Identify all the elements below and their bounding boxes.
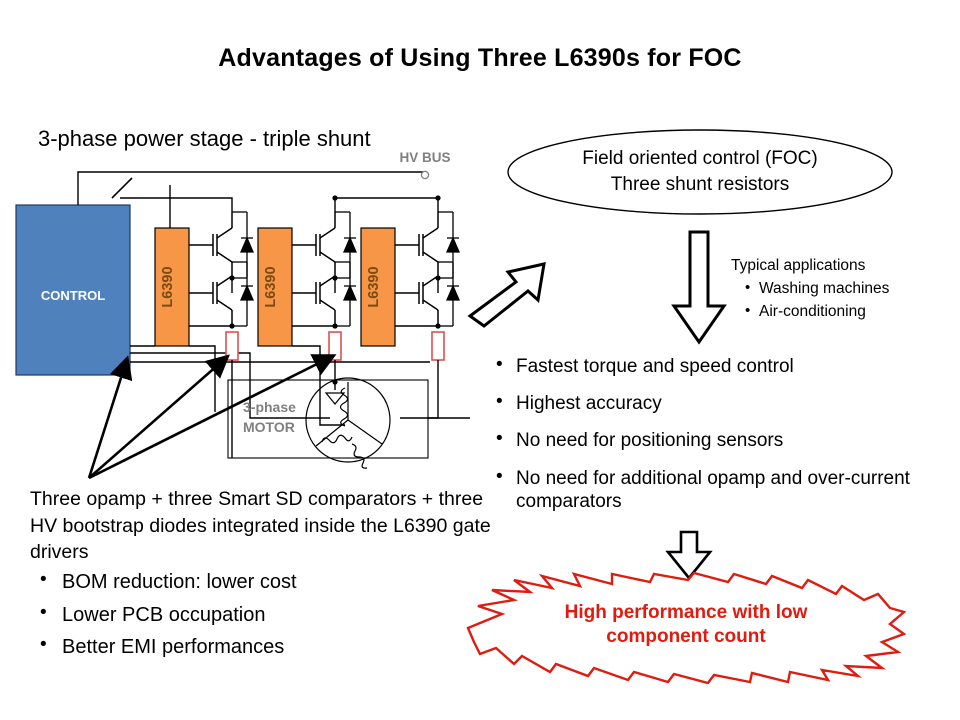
driver-label-1: L6390 xyxy=(160,266,176,307)
hv-bus-terminal xyxy=(421,171,428,178)
typical-applications-heading: Typical applications xyxy=(731,255,889,277)
control-block-label: CONTROL xyxy=(41,288,105,303)
ellipse-line-1: Field oriented control (FOC) xyxy=(582,148,817,170)
starburst-line-1: High performance with low xyxy=(510,601,862,625)
typical-applications-block: Typical applications Washing machines Ai… xyxy=(731,255,889,323)
foc-benefits-block: Fastest torque and speed control Highest… xyxy=(492,355,912,527)
driver-label-2: L6390 xyxy=(263,266,279,307)
integration-benefits-block: BOM reduction: lower cost Lower PCB occu… xyxy=(30,570,460,668)
list-item: Highest accuracy xyxy=(492,392,912,415)
starburst-text: High performance with low component coun… xyxy=(510,601,862,648)
hv-bus-label: HV BUS xyxy=(399,150,450,165)
foc-ellipse-callout: Field oriented control (FOC) Three shunt… xyxy=(505,128,895,216)
slide-canvas: Advantages of Using Three L6390s for FOC… xyxy=(0,0,960,720)
ellipse-line-2: Three shunt resistors xyxy=(611,174,789,196)
shunt-callout-arrows xyxy=(75,335,405,495)
integration-paragraph: Three opamp + three Smart SD comparators… xyxy=(30,486,500,566)
list-item: Washing machines xyxy=(745,278,889,300)
list-item: BOM reduction: lower cost xyxy=(30,570,460,596)
list-item: No need for positioning sensors xyxy=(492,429,912,452)
arrow-down-outline-large-icon xyxy=(668,228,730,346)
starburst-line-2: component count xyxy=(510,625,862,649)
foc-benefits-list: Fastest torque and speed control Highest… xyxy=(492,355,912,513)
arrow-up-right-outline-icon xyxy=(462,250,558,334)
typical-applications-list: Washing machines Air-conditioning xyxy=(731,278,889,323)
list-item: Fastest torque and speed control xyxy=(492,355,912,378)
integration-benefits-list: BOM reduction: lower cost Lower PCB occu… xyxy=(30,570,460,661)
page-title: Advantages of Using Three L6390s for FOC xyxy=(0,44,960,73)
list-item: Air-conditioning xyxy=(745,301,889,323)
list-item: Better EMI performances xyxy=(30,635,460,661)
list-item: No need for additional opamp and over-cu… xyxy=(492,467,912,513)
list-item: Lower PCB occupation xyxy=(30,603,460,629)
driver-label-3: L6390 xyxy=(366,266,382,307)
left-section-heading: 3-phase power stage - triple shunt xyxy=(38,126,371,152)
